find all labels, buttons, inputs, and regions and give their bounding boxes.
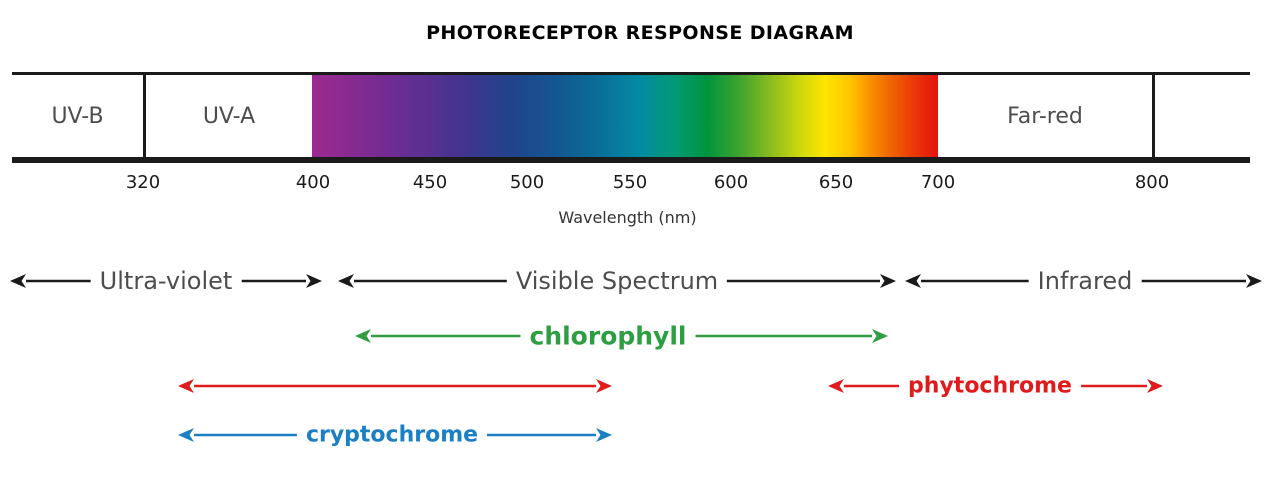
arrow-chlorophyll: chlorophyll [0,318,1280,354]
spectrum-cell-label: UV-B [51,104,103,129]
spectrum-divider-0 [143,72,146,160]
spectrum-cell-label: Far-red [1007,104,1083,129]
axis-tick-label-700: 700 [921,172,955,193]
arrow-label-chlorophyll: chlorophyll [521,322,696,351]
arrow-cryptochrome: cryptochrome [0,417,1280,453]
axis-tick-mark-1 [1152,149,1154,161]
axis-tick-label-550: 550 [613,172,647,193]
arrow-label-cryptochrome: cryptochrome [297,423,487,448]
spectrum-cell-far-red: Far-red [938,75,1152,157]
axis-tick-label-450: 450 [413,172,447,193]
axis-line [12,160,1250,163]
arrow-phytochrome: phytochrome [0,368,1280,404]
axis-tick-mark-0 [143,149,145,161]
arrow-infrared: Infrared [0,262,1280,300]
spectrum-cell-4 [1155,75,1250,157]
spectrum-divider-1 [1152,72,1155,160]
arrow-graphic [0,368,1280,404]
axis-tick-label-800: 800 [1135,172,1169,193]
axis-tick-label-500: 500 [510,172,544,193]
axis-tick-label-400: 400 [296,172,330,193]
axis-tick-label-320: 320 [126,172,160,193]
axis-title: Wavelength (nm) [0,208,1255,227]
spectrum-bar: UV-BUV-AFar-red [12,72,1250,160]
arrow-graphic [0,417,1280,453]
spectrum-cell-uv-b: UV-B [12,75,143,157]
arrow-label-phytochrome: phytochrome [899,374,1081,399]
spectrum-cell-uv-a: UV-A [146,75,312,157]
axis-tick-label-600: 600 [714,172,748,193]
spectrum-cell-label: UV-A [203,104,255,129]
page-title: PHOTORECEPTOR RESPONSE DIAGRAM [0,22,1280,44]
visible-spectrum-gradient [312,75,938,157]
axis-tick-label-650: 650 [819,172,853,193]
arrow-label-infrared: Infrared [1029,267,1142,295]
